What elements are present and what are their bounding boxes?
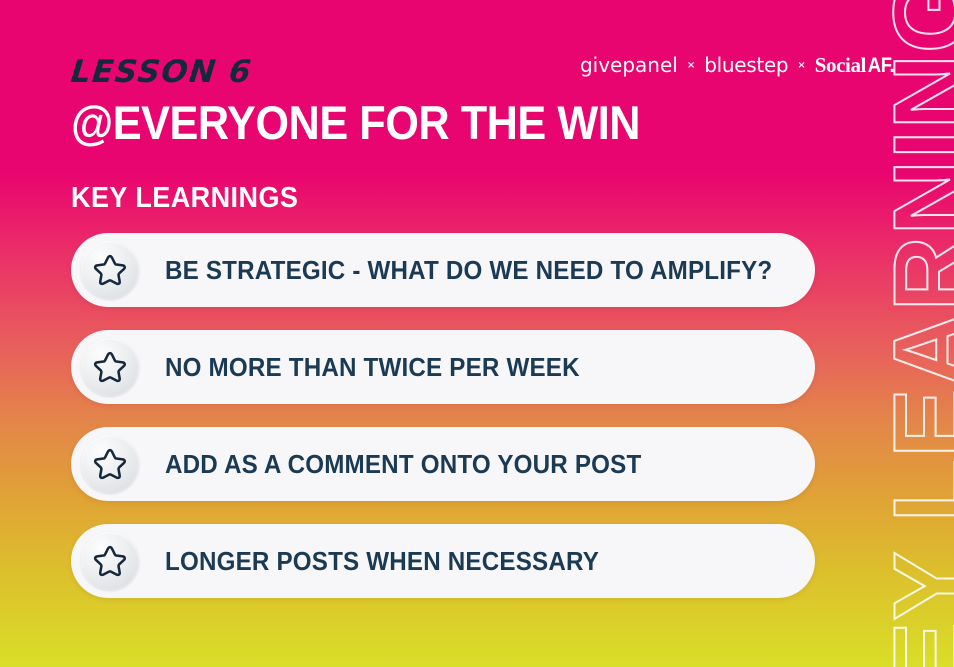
- list-item-label: LONGER POSTS WHEN NECESSARY: [165, 546, 599, 577]
- vertical-key-learnings-text: KEY LEARNINGS: [879, 0, 954, 667]
- socialaf-logo-primary: Social: [815, 53, 866, 78]
- socialaf-logo-secondary: AF.: [868, 54, 894, 78]
- star-icon: [81, 241, 139, 299]
- star-icon: [81, 338, 139, 396]
- star-icon: [81, 532, 139, 590]
- list-item-label: ADD AS A COMMENT ONTO YOUR POST: [165, 449, 641, 480]
- logo-separator-icon: ×: [797, 60, 805, 71]
- vertical-decoration: KEY LEARNINGS: [824, 0, 954, 667]
- givepanel-logo: givepanel: [580, 53, 678, 77]
- partner-logo-bar: givepanel × bluestep × Social AF.: [580, 52, 896, 78]
- logo-separator-icon: ×: [687, 60, 695, 71]
- list-item[interactable]: LONGER POSTS WHEN NECESSARY: [71, 524, 815, 598]
- bluestep-logo: bluestep: [704, 53, 788, 77]
- page-title: @EVERYONE FOR THE WIN: [71, 98, 640, 147]
- list-item-label: NO MORE THAN TWICE PER WEEK: [165, 352, 580, 383]
- list-item-label: BE STRATEGIC - WHAT DO WE NEED TO AMPLIF…: [165, 255, 772, 286]
- key-learnings-list: BE STRATEGIC - WHAT DO WE NEED TO AMPLIF…: [71, 233, 815, 621]
- list-item[interactable]: NO MORE THAN TWICE PER WEEK: [71, 330, 815, 404]
- list-item[interactable]: BE STRATEGIC - WHAT DO WE NEED TO AMPLIF…: [71, 233, 815, 307]
- section-title: KEY LEARNINGS: [71, 182, 298, 215]
- list-item[interactable]: ADD AS A COMMENT ONTO YOUR POST: [71, 427, 815, 501]
- socialaf-logo: Social AF.: [815, 53, 896, 78]
- lesson-label: LESSON 6: [69, 54, 254, 90]
- star-icon: [81, 435, 139, 493]
- slide-canvas: KEY LEARNINGS LESSON 6 @EVERYONE FOR THE…: [0, 0, 954, 667]
